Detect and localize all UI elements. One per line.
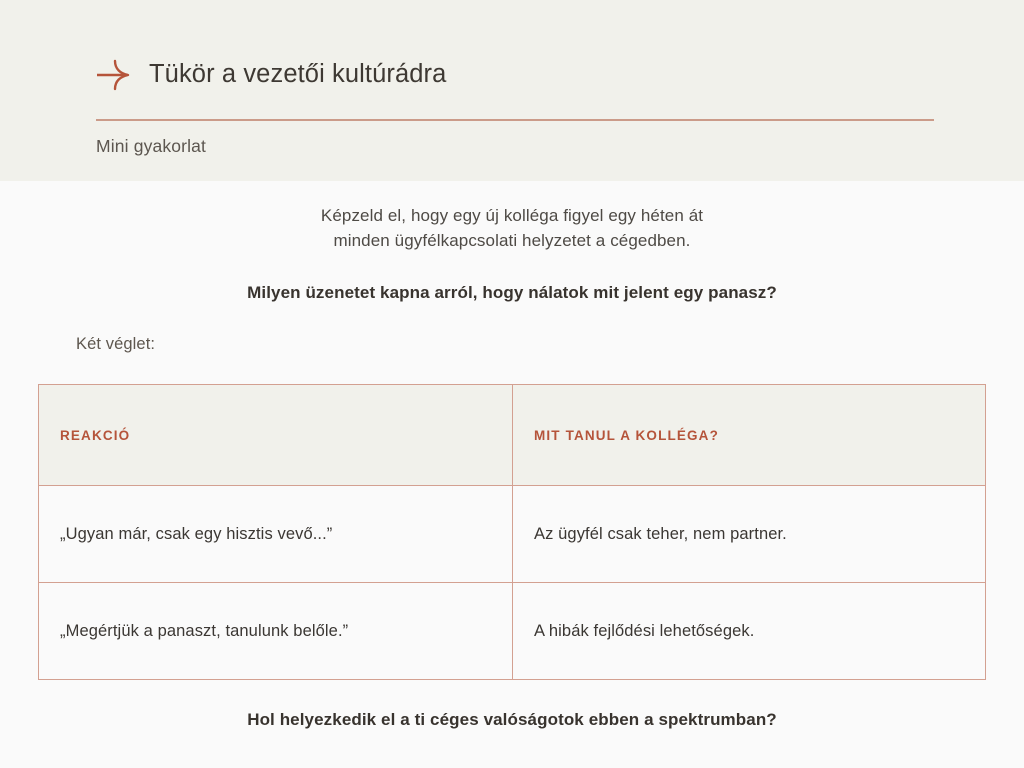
table-row: „Ugyan már, csak egy hisztis vevő...” Az…: [39, 486, 986, 583]
table-cell-lesson-1: Az ügyfél csak teher, nem partner.: [513, 486, 986, 583]
slide-subtitle: Mini gyakorlat: [96, 136, 206, 157]
header-content: Tükör a vezetői kultúrádra Mini gyakorla…: [96, 0, 934, 181]
extremes-table: REAKCIÓ MIT TANUL A KOLLÉGA? „Ugyan már,…: [38, 384, 986, 680]
table-row: „Megértjük a panaszt, tanulunk belőle.” …: [39, 583, 986, 680]
curved-arrow-right-icon: [96, 58, 132, 92]
table-column-header-reaction: REAKCIÓ: [39, 385, 513, 486]
slide: Tükör a vezetői kultúrádra Mini gyakorla…: [0, 0, 1024, 768]
table-cell-reaction-1: „Ugyan már, csak egy hisztis vevő...”: [39, 486, 513, 583]
intro-line-1: Képzeld el, hogy egy új kolléga figyel e…: [0, 203, 1024, 228]
closing-question: Hol helyezkedik el a ti céges valóságoto…: [0, 710, 1024, 730]
table-cell-reaction-2: „Megértjük a panaszt, tanulunk belőle.”: [39, 583, 513, 680]
table-header-row: REAKCIÓ MIT TANUL A KOLLÉGA?: [39, 385, 986, 486]
header-divider: [96, 119, 934, 121]
header-band: Tükör a vezetői kultúrádra Mini gyakorla…: [0, 0, 1024, 181]
slide-title-row: Tükör a vezetői kultúrádra: [96, 58, 446, 92]
page-title: Tükör a vezetői kultúrádra: [149, 62, 446, 88]
two-extremes-label: Két véglet:: [76, 335, 155, 354]
intro-line-2: minden ügyfélkapcsolati helyzetet a cége…: [0, 228, 1024, 253]
table-cell-lesson-2: A hibák fejlődési lehetőségek.: [513, 583, 986, 680]
main-question: Milyen üzenetet kapna arról, hogy nálato…: [0, 283, 1024, 303]
intro-text: Képzeld el, hogy egy új kolléga figyel e…: [0, 203, 1024, 253]
table-column-header-lesson: MIT TANUL A KOLLÉGA?: [513, 385, 986, 486]
